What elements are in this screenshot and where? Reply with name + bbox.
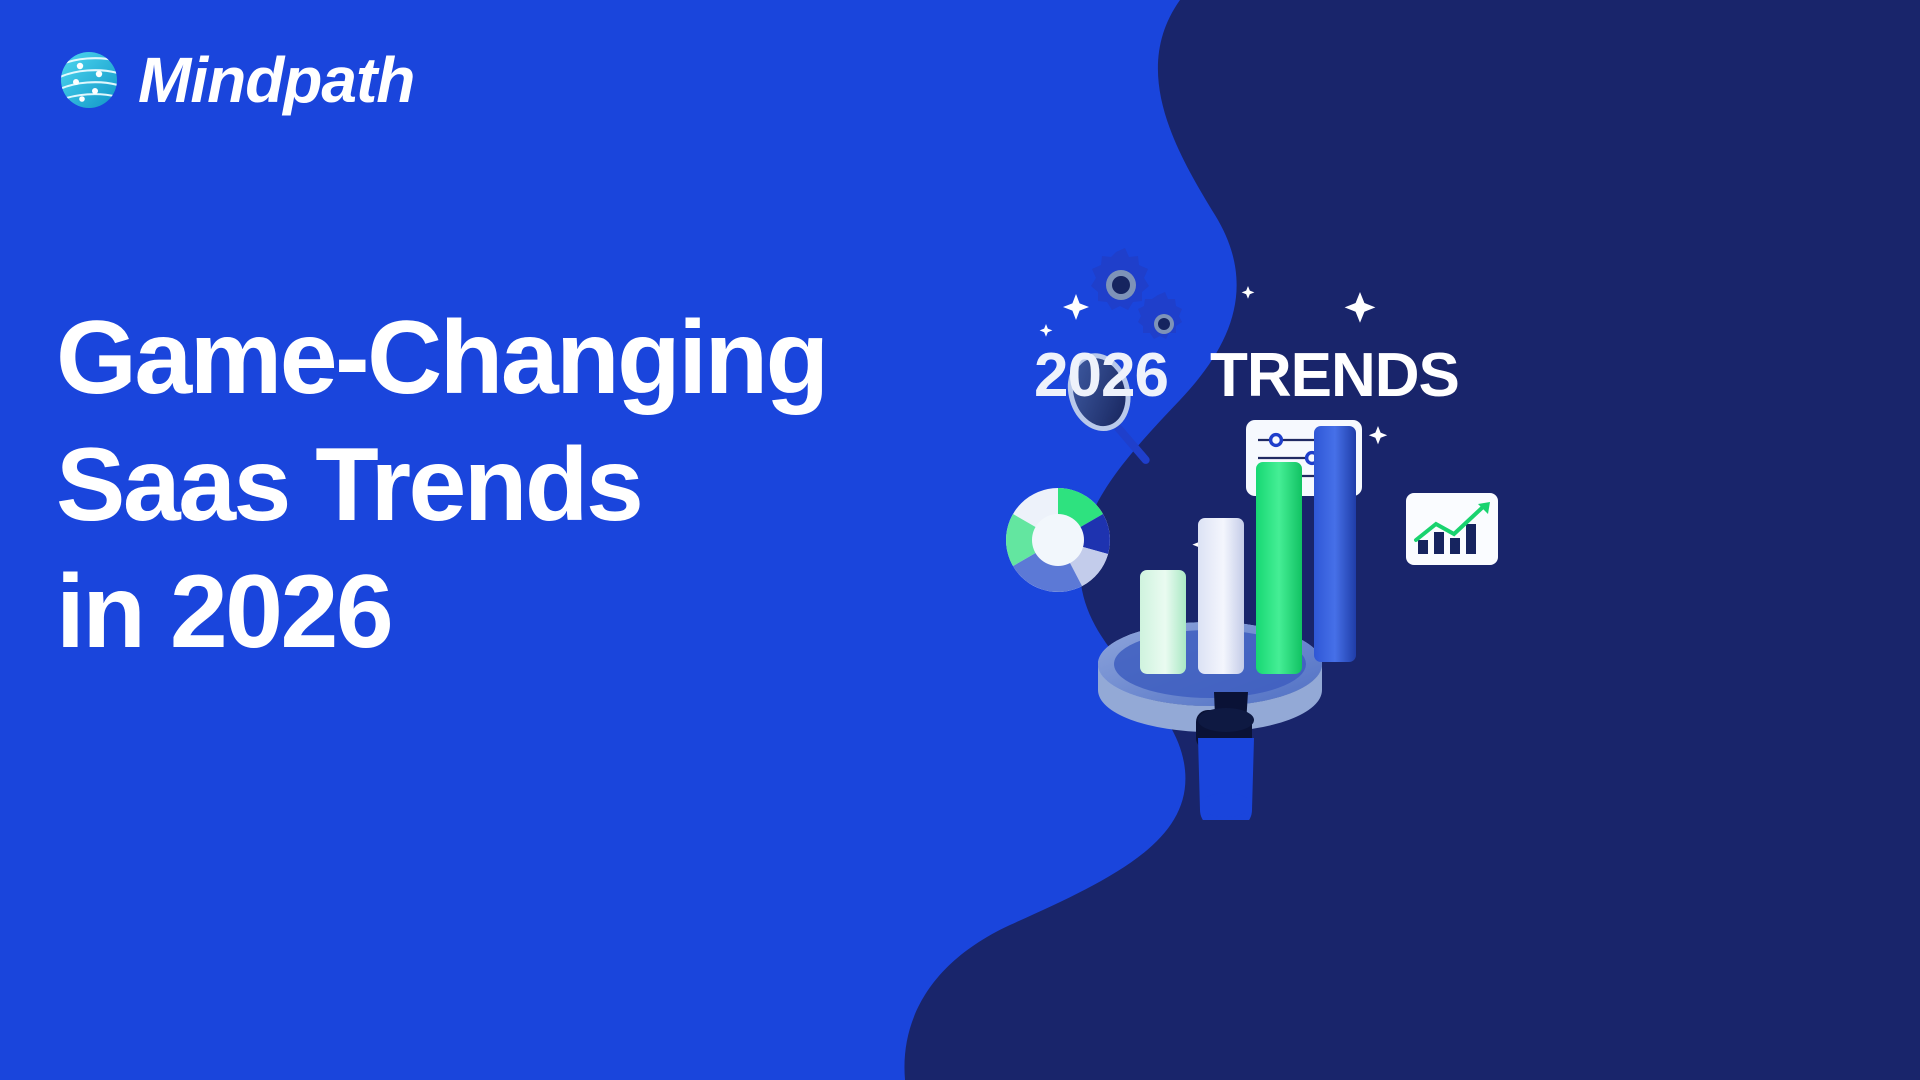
brand-logo[interactable]: Mindpath: [58, 48, 414, 112]
network-globe-icon: [58, 49, 120, 111]
bar-2: [1198, 518, 1244, 674]
page-title: Game-Changing Saas Trends in 2026: [56, 295, 1016, 676]
trends-illustration: 2026 TRENDS: [1000, 240, 1500, 820]
bar-chart-card-icon: [1406, 493, 1498, 565]
brand-name: Mindpath: [138, 48, 414, 112]
illustration-trends-label: TRENDS: [1210, 340, 1459, 411]
handle-icon: [1196, 692, 1254, 820]
gear-small-icon: [1138, 292, 1182, 339]
gear-large-icon: [1091, 248, 1149, 310]
bar-4: [1314, 426, 1356, 662]
bar-1: [1140, 570, 1186, 674]
donut-chart-icon: [1006, 488, 1110, 592]
headline-line-2: Saas Trends: [56, 422, 1016, 549]
illustration-year-label: 2026: [1034, 340, 1168, 411]
bar-3: [1256, 462, 1302, 674]
headline-line-1: Game-Changing: [56, 295, 1016, 422]
headline-line-3: in 2026: [56, 549, 1016, 676]
